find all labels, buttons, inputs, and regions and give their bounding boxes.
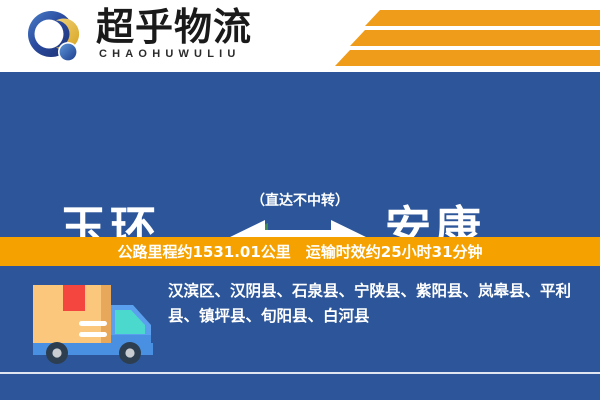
route-note-direct: （直达不中转） bbox=[0, 192, 600, 210]
bottom-divider bbox=[0, 372, 600, 374]
brand-pinyin: CHAOHUWULIU bbox=[99, 48, 241, 61]
delivery-truck-icon bbox=[25, 277, 165, 369]
coverage-districts: 汉滨区、汉阴县、石泉县、宁陕县、紫阳县、岚皋县、平利县、镇坪县、旬阳县、白河县 bbox=[168, 279, 580, 329]
chaohu-circle-logo-icon bbox=[27, 10, 83, 66]
banner-header: 超乎物流 CHAOHUWULIU bbox=[0, 0, 600, 72]
decorative-stripes bbox=[330, 0, 600, 72]
route-info-bar: 公路里程约1531.01公里 运输时效约25小时31分钟 bbox=[0, 237, 600, 266]
logistics-route-banner: 超乎物流 CHAOHUWULIU 玉环 （直达不中转） 【往返运输】 安康 bbox=[0, 0, 600, 400]
coverage-area: 汉滨区、汉阴县、石泉县、宁陕县、紫阳县、岚皋县、平利县、镇坪县、旬阳县、白河县 bbox=[0, 266, 600, 400]
route-panel: 玉环 （直达不中转） 【往返运输】 安康 bbox=[0, 72, 600, 237]
route-info-text: 公路里程约1531.01公里 运输时效约25小时31分钟 bbox=[117, 242, 482, 262]
brand-name: 超乎物流 bbox=[96, 7, 252, 47]
